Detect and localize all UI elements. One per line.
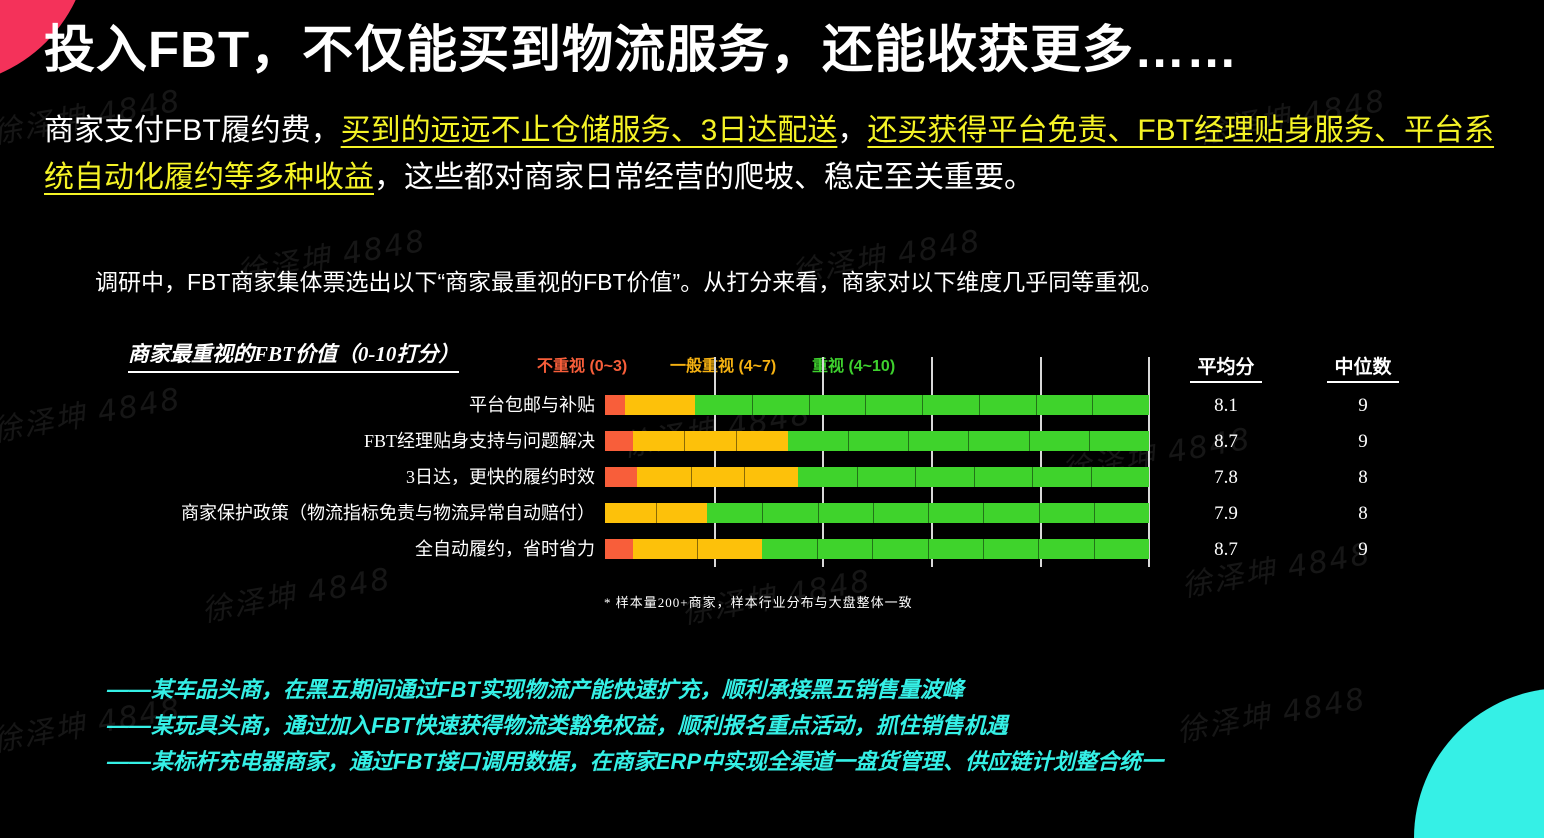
legend-item-low: 不重视 (0~3)	[537, 357, 627, 378]
bar-subdivision-tick	[1092, 395, 1093, 415]
bar-subdivision-tick	[1029, 431, 1030, 451]
subtitle-part-3: ，这些都对商家日常经营的爬坡、稳定至关重要。	[374, 161, 1034, 194]
list-item: ——某玩具头商，通过加入FBT快速获得物流类豁免权益，顺利报名重点活动，抓住销售…	[107, 708, 1163, 744]
average-score-value: 8.7	[1190, 540, 1262, 560]
bar-segment-mid	[633, 431, 788, 451]
bar-category-label: 全自动履约，省时省力	[115, 539, 595, 559]
chart-footnote: * 样本量200+商家，样本行业分布与大盘整体一致	[604, 592, 913, 611]
bar-subdivision-tick	[1094, 503, 1095, 523]
chart-title: 商家最重视的FBT价值（0-10打分）	[128, 338, 459, 373]
gridline	[931, 357, 933, 567]
page-title: 投入FBT，不仅能买到物流服务，还能收获更多……	[44, 8, 1238, 82]
bar-category-label: 商家保护政策（物流指标免责与物流异常自动赔付）	[115, 503, 595, 523]
decor-corner-bottom-right	[1414, 688, 1544, 838]
median-score-value: 9	[1327, 432, 1399, 452]
bar-subdivision-tick	[865, 395, 866, 415]
bar-category-label-wrap: 全自动履约，省时省力	[115, 539, 595, 559]
bar-segment-high	[707, 503, 1149, 523]
list-item: ——某车品头商，在黑五期间通过FBT实现物流产能快速扩充，顺利承接黑五销售量波峰	[107, 672, 1163, 708]
average-score-value: 8.1	[1190, 396, 1262, 416]
subtitle-part-1: 商家支付FBT履约费，	[44, 114, 341, 147]
average-score-value: 8.7	[1190, 432, 1262, 452]
bar-subdivision-tick	[1091, 467, 1092, 487]
bar-subdivision-tick	[983, 503, 984, 523]
bar-category-label: 平台包邮与补贴	[115, 395, 595, 415]
bar-segment-low	[605, 431, 633, 451]
subtitle-part-2: ，	[837, 114, 867, 147]
bar-segment-high	[695, 395, 1149, 415]
bar-subdivision-tick	[857, 467, 858, 487]
bar-subdivision-tick	[983, 539, 984, 559]
bar-subdivision-tick	[979, 395, 980, 415]
bar-category-label-wrap: 商家保护政策（物流指标免责与物流异常自动赔付）	[115, 503, 595, 523]
bar-segment-mid	[625, 395, 695, 415]
bar-subdivision-tick	[1038, 539, 1039, 559]
bar-subdivision-tick	[1032, 467, 1033, 487]
bar-subdivision-tick	[974, 467, 975, 487]
bar-segment-mid	[605, 503, 707, 523]
bar-subdivision-tick	[1036, 395, 1037, 415]
bar-subdivision-tick	[656, 503, 657, 523]
subtitle-paragraph: 商家支付FBT履约费，买到的远远不止仓储服务、3日达配送，还买获得平台免责、FB…	[44, 108, 1506, 201]
watermark: 徐泽坤 4848	[1173, 674, 1370, 751]
median-score-value: 9	[1327, 540, 1399, 560]
bar-segment-high	[762, 539, 1149, 559]
average-score-value: 7.9	[1190, 504, 1262, 524]
bar-subdivision-tick	[873, 503, 874, 523]
gridline	[822, 357, 824, 567]
median-score-value: 8	[1327, 504, 1399, 524]
bar-row	[605, 539, 1149, 559]
bar-subdivision-tick	[928, 503, 929, 523]
bar-category-label-wrap: 3日达，更快的履约时效	[115, 467, 595, 487]
bar-subdivision-tick	[809, 395, 810, 415]
chart-container: 商家最重视的FBT价值（0-10打分） 不重视 (0~3) 一般重视 (4~7)…	[0, 330, 1544, 590]
bar-row	[605, 431, 1149, 451]
bar-subdivision-tick	[762, 503, 763, 523]
bar-segment-high	[788, 431, 1149, 451]
gridline	[1148, 357, 1150, 567]
bar-subdivision-tick	[818, 503, 819, 523]
bar-subdivision-tick	[684, 431, 685, 451]
average-score-value: 7.8	[1190, 468, 1262, 488]
bar-subdivision-tick	[915, 467, 916, 487]
median-score-value: 9	[1327, 396, 1399, 416]
column-header-average: 平均分	[1190, 352, 1262, 383]
bar-subdivision-tick	[1094, 539, 1095, 559]
bar-segment-low	[605, 539, 633, 559]
gridline	[714, 357, 716, 567]
median-score-value: 8	[1327, 468, 1399, 488]
bar-subdivision-tick	[691, 467, 692, 487]
bar-subdivision-tick	[908, 431, 909, 451]
bar-subdivision-tick	[1039, 503, 1040, 523]
case-bullet-list: ——某车品头商，在黑五期间通过FBT实现物流产能快速扩充，顺利承接黑五销售量波峰…	[107, 672, 1163, 780]
gridline	[1040, 357, 1042, 567]
list-item: ——某标杆充电器商家，通过FBT接口调用数据，在商家ERP中实现全渠道一盘货管理…	[107, 744, 1163, 780]
bar-subdivision-tick	[736, 431, 737, 451]
bar-row	[605, 467, 1149, 487]
bar-category-label-wrap: FBT经理贴身支持与问题解决	[115, 431, 595, 451]
bar-category-label: FBT经理贴身支持与问题解决	[115, 431, 595, 451]
bar-subdivision-tick	[922, 395, 923, 415]
bar-segment-low	[605, 467, 637, 487]
plot-area	[605, 395, 1149, 567]
bar-segment-mid	[637, 467, 798, 487]
bar-subdivision-tick	[697, 539, 698, 559]
bar-subdivision-tick	[848, 431, 849, 451]
bar-row	[605, 395, 1149, 415]
bar-category-label: 3日达，更快的履约时效	[115, 467, 595, 487]
bar-subdivision-tick	[744, 467, 745, 487]
bar-subdivision-tick	[872, 539, 873, 559]
bar-subdivision-tick	[928, 539, 929, 559]
subtitle-highlight-1: 买到的远远不止仓储服务、3日达配送	[341, 114, 838, 147]
intro-text: 调研中，FBT商家集体票选出以下“商家最重视的FBT价值”。从打分来看，商家对以…	[95, 263, 1163, 297]
bar-segment-low	[605, 395, 625, 415]
bar-segment-high	[798, 467, 1149, 487]
legend-item-high: 重视 (4~10)	[812, 357, 895, 378]
bar-subdivision-tick	[968, 431, 969, 451]
bar-category-label-wrap: 平台包邮与补贴	[115, 395, 595, 415]
bar-segment-mid	[633, 539, 762, 559]
bar-subdivision-tick	[752, 395, 753, 415]
bar-subdivision-tick	[1089, 431, 1090, 451]
bar-row	[605, 503, 1149, 523]
bar-subdivision-tick	[817, 539, 818, 559]
column-header-median: 中位数	[1327, 352, 1399, 383]
